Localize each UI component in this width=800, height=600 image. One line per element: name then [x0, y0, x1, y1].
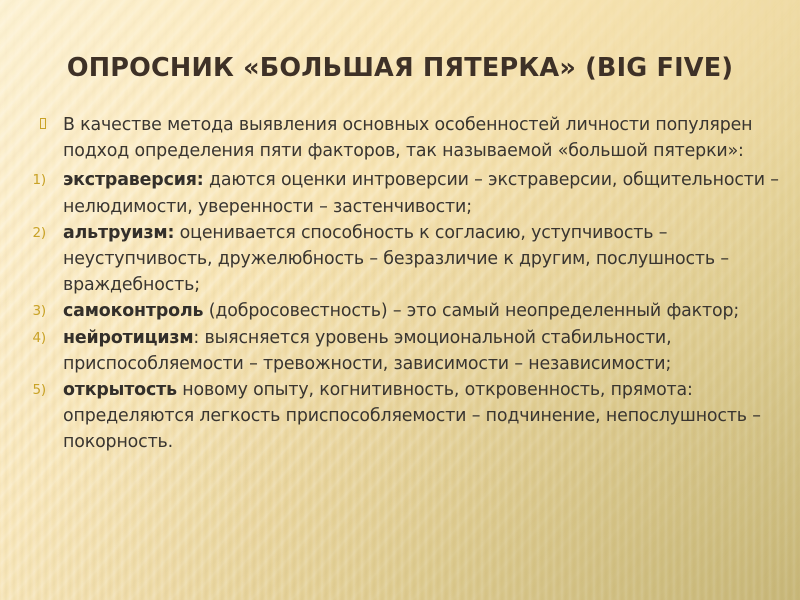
slide-body: В качестве метода выявления основных осо…	[0, 112, 800, 456]
list-item: 2) альтруизм: оценивается способность к …	[0, 220, 800, 299]
square-bullet-icon	[0, 112, 55, 138]
list-item: 1) экстраверсия: даются оценки интроверс…	[0, 167, 800, 219]
list-item-number: 2)	[0, 220, 55, 247]
list-item-term: самоконтроль	[63, 301, 203, 321]
list-item-number: 1)	[0, 167, 55, 194]
list-item-number: 3)	[0, 298, 55, 325]
list-item: 3) самоконтроль (добросовестность) – это…	[0, 298, 800, 324]
list-item: 5) открытость новому опыту, когнитивност…	[0, 377, 800, 456]
list-item-term: альтруизм:	[63, 223, 174, 243]
intro-paragraph-text: В качестве метода выявления основных осо…	[63, 115, 752, 161]
list-item-term: открытость	[63, 380, 177, 400]
list-item-description: (добросовестность) – это самый неопредел…	[203, 301, 739, 321]
list-item-term: нейротицизм	[63, 328, 193, 348]
list-item-number: 4)	[0, 325, 55, 352]
slide-title: Опросник «Большая пятерка» (Big Five)	[0, 54, 800, 82]
list-item-term: экстраверсия:	[63, 170, 204, 190]
slide-content: Опросник «Большая пятерка» (Big Five) В …	[0, 0, 800, 600]
list-item-number: 5)	[0, 377, 55, 404]
intro-paragraph: В качестве метода выявления основных осо…	[0, 112, 800, 164]
list-item: 4) нейротицизм: выясняется уровень эмоци…	[0, 325, 800, 377]
presentation-slide: Опросник «Большая пятерка» (Big Five) В …	[0, 0, 800, 600]
